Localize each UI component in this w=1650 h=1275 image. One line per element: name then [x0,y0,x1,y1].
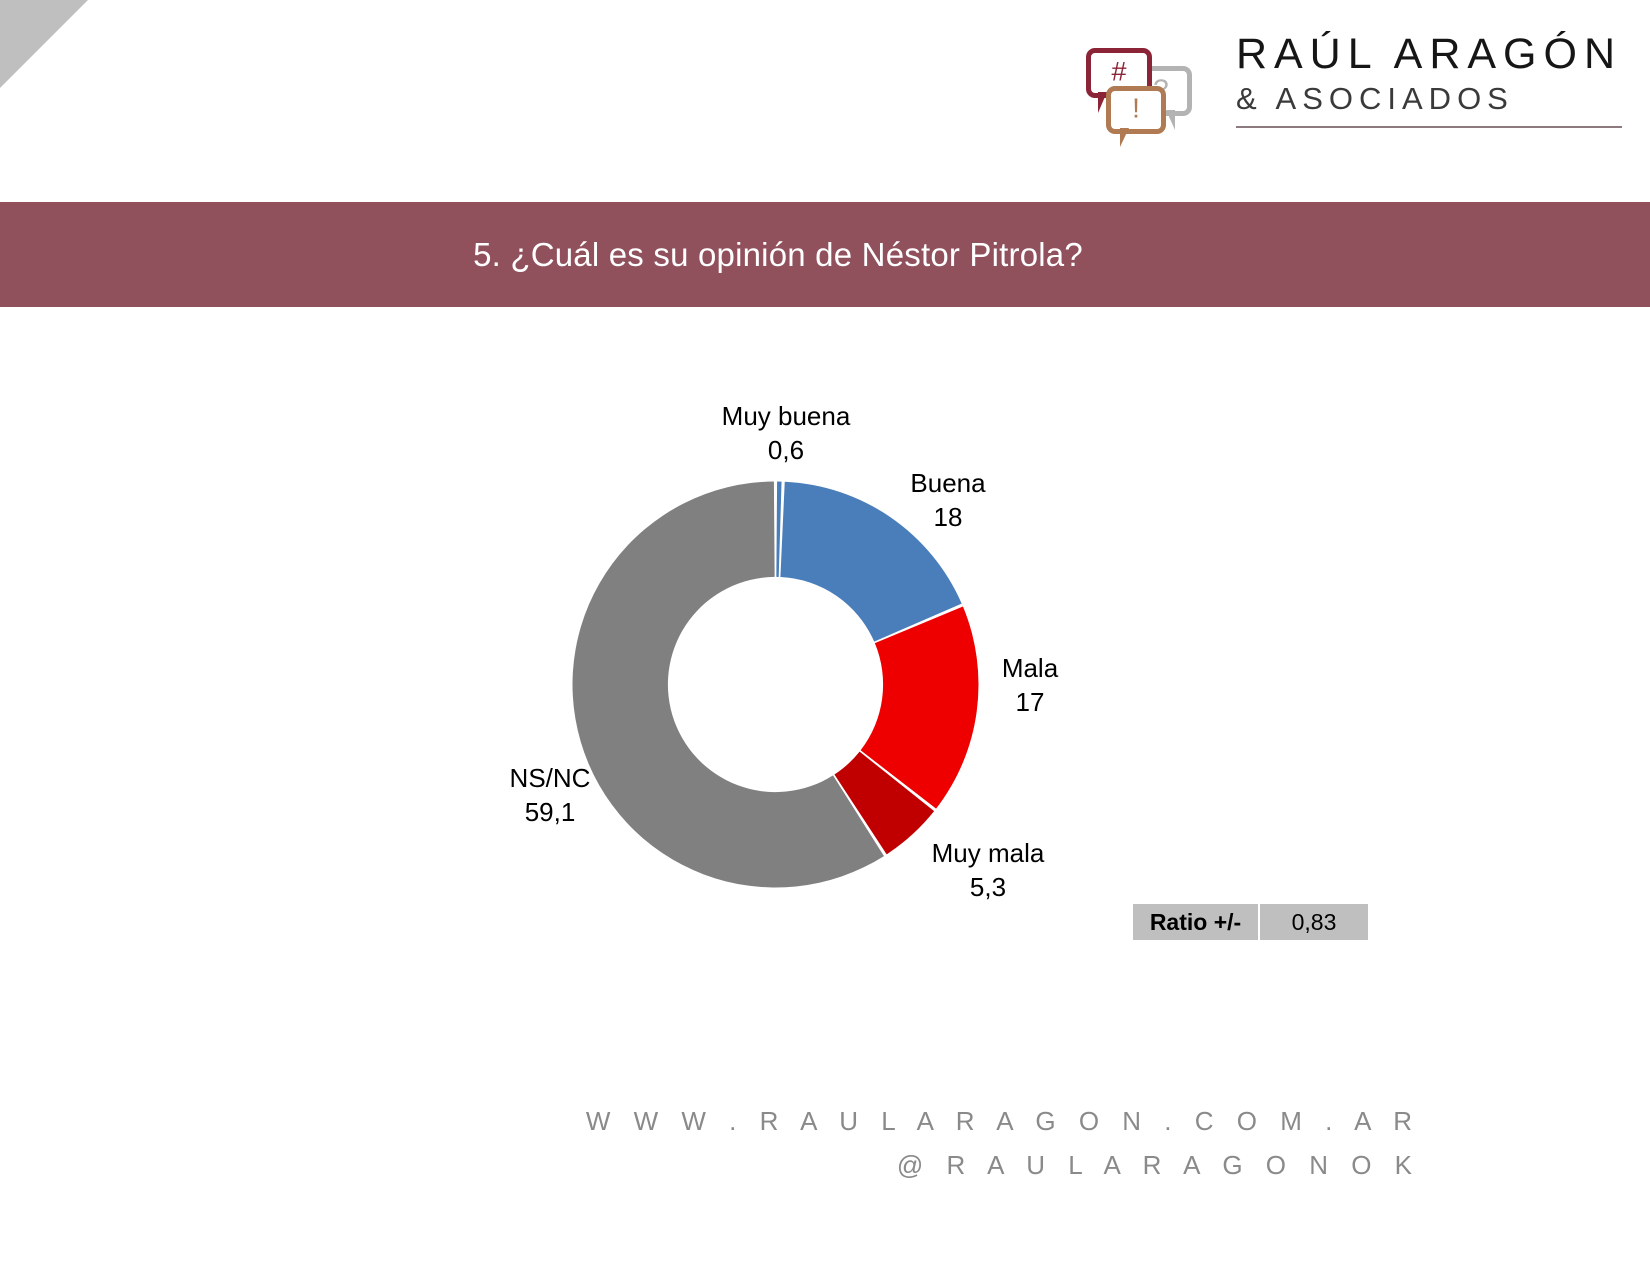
corner-triangle-decoration [0,0,88,88]
brand-name: RAÚL ARAGÓN [1236,32,1622,77]
question-bubble-tail [1166,110,1175,130]
slice-label-mala: Mala 17 [955,652,1105,720]
speech-bubbles-icon: # ? ! [1082,28,1210,146]
slice-label-mala-name: Mala [1002,653,1058,683]
ratio-label: Ratio +/- [1133,904,1258,940]
donut-chart [568,477,983,892]
brand-divider [1236,126,1622,128]
page-title: 5. ¿Cuál es su opinión de Néstor Pitrola… [473,236,1083,274]
slice-label-ns-nc: NS/NC 59,1 [455,762,645,830]
slice-label-muy-mala-value: 5,3 [888,871,1088,905]
slice-label-muy-mala: Muy mala 5,3 [888,837,1088,905]
ratio-table: Ratio +/- 0,83 [1133,904,1368,940]
exclamation-glyph: ! [1111,93,1161,125]
exclamation-bubble-tail [1120,128,1129,147]
slice-label-buena-name: Buena [910,468,985,498]
footer-website: W W W . R A U L A R A G O N . C O M . A … [586,1099,1420,1143]
slice-label-ns-nc-name: NS/NC [510,763,591,793]
donut-slice-muy-buena [776,482,781,577]
brand-text: RAÚL ARAGÓN & ASOCIADOS [1236,28,1622,128]
slice-label-buena: Buena 18 [868,467,1028,535]
hash-glyph: # [1091,56,1147,87]
slice-label-muy-mala-name: Muy mala [932,838,1045,868]
brand-subtitle: & ASOCIADOS [1236,83,1622,116]
brand-logo: # ? ! RAÚL ARAGÓN & ASOCIADOS [1082,28,1622,146]
slice-label-muy-buena-name: Muy buena [722,401,851,431]
ratio-value: 0,83 [1260,904,1368,940]
exclamation-bubble-icon: ! [1106,86,1166,134]
donut-chart-svg [568,477,983,892]
footer: W W W . R A U L A R A G O N . C O M . A … [586,1099,1420,1187]
footer-social: @ R A U L A R A G O N O K [586,1143,1420,1187]
chart-area: Muy buena 0,6 Buena 18 Mala 17 Muy mala … [0,307,1650,1007]
slice-label-muy-buena-value: 0,6 [688,434,884,468]
slice-label-buena-value: 18 [868,501,1028,535]
slice-label-mala-value: 17 [955,686,1105,720]
slice-label-ns-nc-value: 59,1 [455,796,645,830]
slice-label-muy-buena: Muy buena 0,6 [688,400,884,468]
slide-title-band: 5. ¿Cuál es su opinión de Néstor Pitrola… [0,202,1650,307]
